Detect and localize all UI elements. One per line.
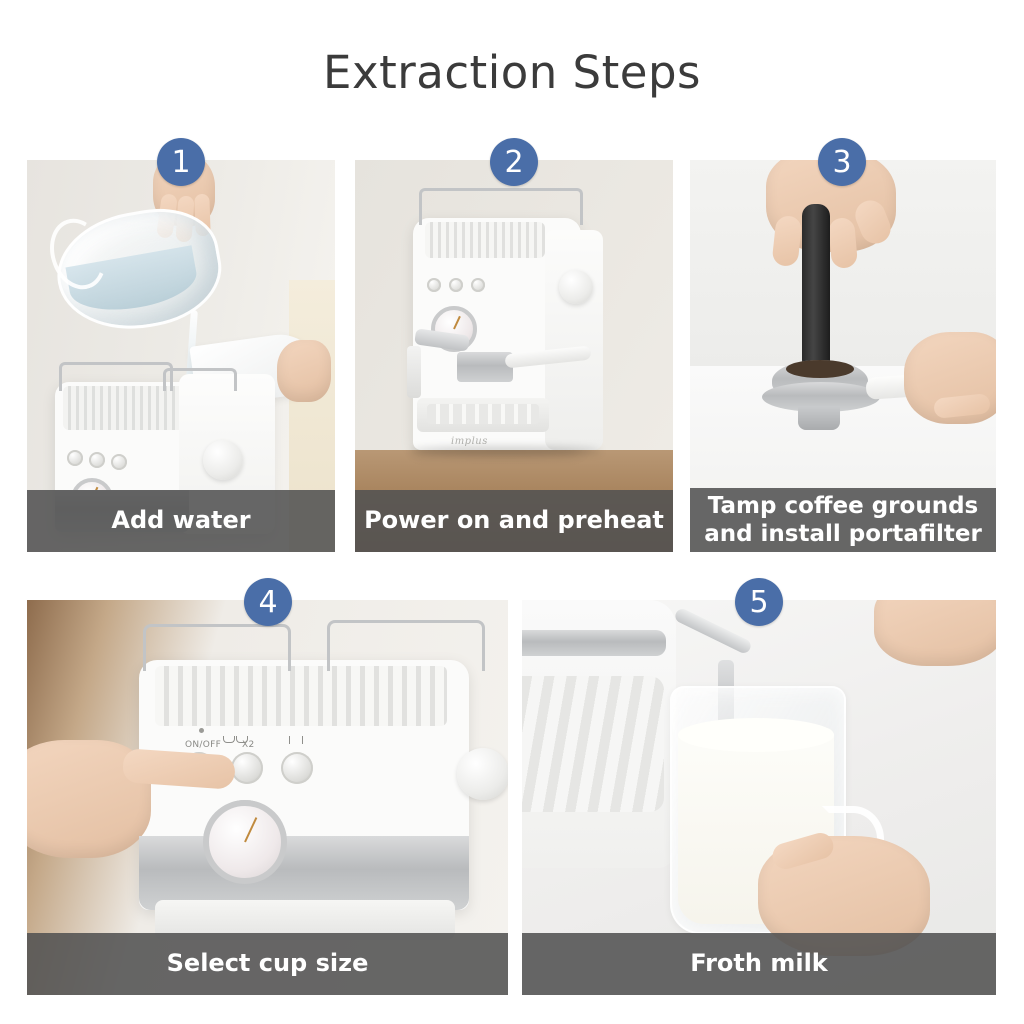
cup-warmer-rail xyxy=(143,624,291,671)
step-panel-3[interactable]: Tamp coffee grounds and install portafil… xyxy=(690,160,996,552)
step-panel-4[interactable]: ON/OFF X2 Select cup size xyxy=(27,600,508,995)
steam-wand-tip xyxy=(407,346,421,398)
step-badge-5: 5 xyxy=(735,578,783,626)
hand-holding-wand xyxy=(874,600,996,666)
step-badge-2: 2 xyxy=(490,138,538,186)
machine-base-shadow xyxy=(411,446,601,456)
control-button[interactable] xyxy=(471,278,485,292)
cup-icon xyxy=(223,736,235,743)
steam-button[interactable] xyxy=(281,752,313,784)
machine-steel-band xyxy=(139,836,469,910)
tamper-handle xyxy=(802,204,830,372)
infographic-page: Extraction Steps xyxy=(0,0,1024,1024)
step-panel-2[interactable]: implus Power on and preheat xyxy=(355,160,673,552)
step-5-caption: Froth milk xyxy=(522,933,996,995)
pressure-gauge-face xyxy=(203,800,287,884)
step-badge-1: 1 xyxy=(157,138,205,186)
cup-size-button[interactable] xyxy=(231,752,263,784)
control-button[interactable] xyxy=(449,278,463,292)
machine-steel-band xyxy=(522,630,666,656)
onoff-label: ON/OFF xyxy=(185,740,221,750)
step-4-caption: Select cup size xyxy=(27,933,508,995)
page-title: Extraction Steps xyxy=(0,46,1024,99)
cup-warmer-rail xyxy=(163,368,237,391)
step-1-caption: Add water xyxy=(27,490,335,552)
drip-tray-grid xyxy=(427,404,539,424)
hand-holding-lid xyxy=(277,340,331,402)
steam-knob[interactable] xyxy=(457,748,508,800)
control-button[interactable] xyxy=(427,278,441,292)
cup-icon xyxy=(236,736,248,743)
finger xyxy=(828,217,858,269)
group-head xyxy=(457,352,513,382)
steam-icon xyxy=(289,736,303,744)
machine-right-side xyxy=(545,230,603,450)
machine-top-grill xyxy=(63,386,185,430)
coffee-grounds xyxy=(786,360,854,378)
cup-warmer-rail xyxy=(419,188,583,225)
step-badge-3: 3 xyxy=(818,138,866,186)
step-badge-4: 4 xyxy=(244,578,292,626)
step-panel-5[interactable]: Froth milk xyxy=(522,600,996,995)
cup-warmer-rail xyxy=(59,362,173,391)
control-button[interactable] xyxy=(67,450,83,466)
portafilter-spout xyxy=(798,406,840,430)
machine-top-grill xyxy=(425,222,545,258)
drip-tray-grid xyxy=(522,676,664,812)
milk-foam xyxy=(678,718,834,752)
cup-warmer-rail xyxy=(327,620,485,671)
machine-top-grill xyxy=(155,666,447,726)
control-button[interactable] xyxy=(89,452,105,468)
steam-knob[interactable] xyxy=(559,270,593,304)
indicator-dot xyxy=(199,728,204,733)
step-panel-1[interactable]: Add water xyxy=(27,160,335,552)
control-button[interactable] xyxy=(111,454,127,470)
steam-knob[interactable] xyxy=(203,440,243,480)
step-3-caption: Tamp coffee grounds and install portafil… xyxy=(690,488,996,552)
step-2-caption: Power on and preheat xyxy=(355,490,673,552)
